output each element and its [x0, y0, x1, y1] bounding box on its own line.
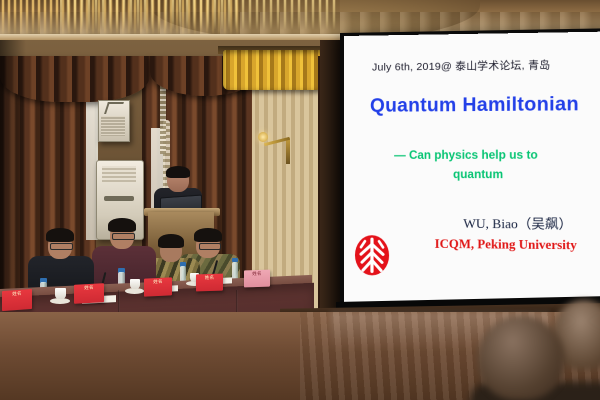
panelist-3-glasses: [199, 243, 221, 250]
panelist-1-glasses: [50, 243, 73, 250]
left-vignette: [0, 40, 26, 330]
slide-subtitle-line2: quantum: [453, 169, 503, 181]
conference-room-photo: July 6th, 2019@ 泰山学术论坛, 青岛 Quantum Hamil…: [0, 0, 600, 400]
slide-author: WU, Biao（吴飙）: [463, 213, 572, 233]
panelist-4-hair: [158, 234, 184, 248]
slide-affiliation: ICQM, Peking University: [435, 237, 577, 254]
name-placard[interactable]: 姓名: [74, 283, 104, 304]
name-placard[interactable]: 姓名: [2, 289, 32, 311]
speaker-grill: [101, 116, 125, 136]
air-conditioner-slot: [104, 196, 134, 201]
gilded-column-capital: [223, 50, 323, 90]
presenter-hair: [166, 166, 190, 178]
panelist-2-hair: [108, 218, 136, 232]
sconce-stem: [286, 138, 290, 164]
peking-university-seal-icon: [352, 232, 392, 279]
air-conditioner-vent: [102, 166, 136, 182]
panelist-2-glasses: [112, 233, 135, 240]
slide-subtitle-line1: — Can physics help us to: [394, 150, 538, 162]
name-placard[interactable]: 姓名: [144, 277, 172, 296]
name-placard[interactable]: 姓名: [196, 274, 223, 292]
slide-date-line: July 6th, 2019@ 泰山学术论坛, 青岛: [372, 57, 550, 75]
projection-screen[interactable]: July 6th, 2019@ 泰山学术论坛, 青岛 Quantum Hamil…: [344, 32, 600, 309]
crystal-chandelier-secondary: [60, 0, 340, 30]
panelist-3-hair: [194, 228, 222, 242]
slide-title: Quantum Hamiltonian: [370, 94, 579, 118]
panelist-1-hair: [46, 228, 74, 242]
name-placard[interactable]: 姓名: [244, 270, 270, 288]
teacup[interactable]: [130, 279, 140, 289]
teacup[interactable]: [55, 288, 66, 299]
curtain-tassel-upper: [160, 84, 166, 154]
sconce-bulb-icon: [258, 132, 268, 142]
foreground-audience-head: [478, 316, 564, 400]
